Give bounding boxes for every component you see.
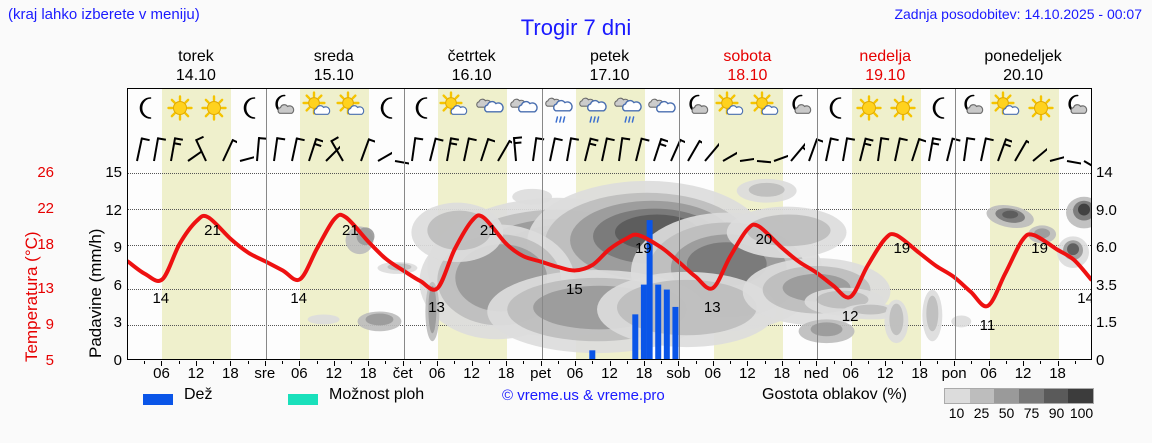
day-name: torek (127, 47, 265, 66)
day-date: 20.10 (954, 66, 1092, 85)
cloud-rain-icon (611, 91, 645, 125)
time-tick-label: 18 (1049, 365, 1066, 382)
time-minor-tick-mark (799, 361, 800, 364)
temperature-tick-label: 18 (14, 236, 54, 253)
precipitation-tick-label: 12 (92, 202, 122, 219)
weather-plot[interactable]: 142114211321151913201219111914 (127, 88, 1092, 360)
time-axis: 061218sre061218čet061218pet061218sob0612… (127, 361, 1092, 385)
time-tick-label: 18 (911, 365, 928, 382)
temperature-value-label: 19 (635, 240, 652, 257)
temperature-curve-layer (128, 173, 1091, 359)
temperature-tick-label: 22 (14, 200, 54, 217)
time-tick-label: pet (530, 365, 551, 382)
time-tick-label: 06 (291, 365, 308, 382)
time-minor-tick-mark (144, 361, 145, 364)
time-minor-tick-mark (385, 361, 386, 364)
sun-cloud-icon (301, 91, 335, 125)
day-name: sobota (678, 47, 816, 66)
time-tick-label: 18 (773, 365, 790, 382)
rain-legend-label: Dež (184, 386, 212, 404)
day-separator (817, 89, 818, 359)
sun-cloud-icon (438, 91, 472, 125)
sun-icon (197, 91, 231, 125)
time-minor-tick-mark (351, 361, 352, 364)
time-minor-tick-mark (592, 361, 593, 364)
day-name: nedelja (816, 47, 954, 66)
cloud-density-ramp-step (970, 389, 995, 403)
time-tick-label: ned (804, 365, 829, 382)
time-minor-tick-mark (627, 361, 628, 364)
rain-legend-swatch (143, 394, 173, 405)
time-minor-tick-mark (317, 361, 318, 364)
time-tick-label: 12 (188, 365, 205, 382)
cloud-icon (473, 91, 507, 125)
time-tick-label: 06 (153, 365, 170, 382)
cloud-density-ramp-label: 100 (1070, 405, 1093, 421)
moon-icon (404, 91, 438, 125)
time-minor-tick-mark (213, 361, 214, 364)
time-minor-tick-mark (765, 361, 766, 364)
chart-legend: Dež Možnost ploh © vreme.us & vreme.pro … (0, 386, 1152, 426)
cloud-density-ramp-label: 90 (1049, 405, 1065, 421)
time-minor-tick-mark (1006, 361, 1007, 364)
cloud-density-ramp-step (994, 389, 1019, 403)
moon-icon (128, 91, 162, 125)
temperature-value-label: 11 (980, 317, 996, 334)
temperature-value-label: 13 (704, 299, 721, 316)
time-minor-tick-mark (282, 361, 283, 364)
time-tick-label: 12 (739, 365, 756, 382)
precipitation-tick-label: 3 (92, 314, 122, 331)
day-header-torek: torek14.10 (127, 47, 265, 87)
graph-region: 142114211321151913201219111914 (128, 173, 1091, 359)
cloud-density-legend-title: Gostota oblakov (%) (762, 386, 907, 404)
time-tick-label: pon (942, 365, 967, 382)
time-minor-tick-mark (730, 361, 731, 364)
time-minor-tick-mark (454, 361, 455, 364)
temperature-value-label: 14 (1077, 290, 1092, 307)
time-tick-label: 18 (222, 365, 239, 382)
cloud-height-tick-label: 1.5 (1096, 314, 1138, 331)
time-minor-tick-mark (661, 361, 662, 364)
day-date: 18.10 (678, 66, 816, 85)
time-tick-label: 12 (877, 365, 894, 382)
cloud-density-ramp-step (945, 389, 970, 403)
day-header-sobota: sobota18.10 (678, 47, 816, 87)
sun-icon (886, 91, 920, 125)
sun-icon (163, 91, 197, 125)
cloud-height-axis-title: Višina oblakov (km) (1136, 170, 1152, 390)
temperature-value-label: 19 (1031, 240, 1048, 257)
showers-legend-swatch (288, 394, 318, 405)
time-minor-tick-mark (696, 361, 697, 364)
cloud-density-ramp-label: 75 (1024, 405, 1040, 421)
showers-legend-label: Možnost ploh (329, 386, 424, 404)
time-minor-tick-mark (420, 361, 421, 364)
cloud-icon (507, 91, 541, 125)
cloud-density-ramp-step (1019, 389, 1044, 403)
precipitation-tick-label: 15 (92, 164, 122, 181)
temperature-value-label: 21 (204, 222, 221, 239)
time-tick-label: 12 (463, 365, 480, 382)
copyright-link[interactable]: © vreme.us & vreme.pro (502, 387, 665, 404)
day-name: sreda (265, 47, 403, 66)
moon-icon (369, 91, 403, 125)
cloud-icon (645, 91, 679, 125)
cloud-height-tick-label: 9.0 (1096, 202, 1138, 219)
temperature-value-label: 20 (756, 231, 773, 248)
sun-cloud-icon (335, 91, 369, 125)
time-tick-label: 06 (567, 365, 584, 382)
day-name: ponedeljek (954, 47, 1092, 66)
time-minor-tick-mark (902, 361, 903, 364)
precipitation-tick-label: 6 (92, 277, 122, 294)
wind-barb-icon (1070, 129, 1092, 171)
day-separator (266, 89, 267, 359)
time-tick-label: sob (666, 365, 690, 382)
temperature-value-label: 12 (842, 308, 859, 325)
time-minor-tick-mark (489, 361, 490, 364)
time-tick-label: 12 (325, 365, 342, 382)
cloud-density-ramp-label: 25 (974, 405, 990, 421)
cloud-rain-icon (542, 91, 576, 125)
time-minor-tick-mark (558, 361, 559, 364)
time-tick-label: čet (393, 365, 413, 382)
moon-cloud-icon (266, 91, 300, 125)
day-separator (679, 89, 680, 359)
sun-cloud-icon (990, 91, 1024, 125)
cloud-density-ramp-labels: 1025507590100 (944, 405, 1094, 423)
day-date: 14.10 (127, 66, 265, 85)
time-minor-tick-mark (834, 361, 835, 364)
temperature-value-label: 13 (428, 299, 445, 316)
cloud-density-ramp-step (1068, 389, 1093, 403)
day-name: petek (541, 47, 679, 66)
time-tick-label: 06 (842, 365, 859, 382)
time-minor-tick-mark (523, 361, 524, 364)
time-tick-label: 06 (429, 365, 446, 382)
time-tick-label: 18 (498, 365, 515, 382)
temperature-value-label: 19 (893, 240, 910, 257)
time-tick-label: 06 (980, 365, 997, 382)
day-date: 15.10 (265, 66, 403, 85)
precipitation-tick-label: 9 (92, 239, 122, 256)
day-separator (404, 89, 405, 359)
day-separator (542, 89, 543, 359)
wind-barb-strip (128, 129, 1091, 173)
time-minor-tick-mark (937, 361, 938, 364)
cloud-density-color-ramp (944, 388, 1094, 404)
time-minor-tick-mark (1075, 361, 1076, 364)
temperature-value-label: 21 (342, 222, 359, 239)
time-minor-tick-mark (179, 361, 180, 364)
temperature-value-label: 15 (566, 281, 583, 298)
temperature-value-label: 14 (290, 290, 307, 307)
cloud-height-tick-label: 14 (1096, 164, 1138, 181)
temperature-tick-label: 5 (14, 352, 54, 369)
day-date: 19.10 (816, 66, 954, 85)
day-separator (955, 89, 956, 359)
temperature-tick-label: 13 (14, 280, 54, 297)
time-tick-label: 18 (636, 365, 653, 382)
weather-icon-strip (128, 89, 1091, 129)
moon-icon (921, 91, 955, 125)
time-tick-label: 12 (601, 365, 618, 382)
cloud-rain-icon (576, 91, 610, 125)
moon-icon (232, 91, 266, 125)
day-name: četrtek (403, 47, 541, 66)
time-minor-tick-mark (868, 361, 869, 364)
temperature-value-label: 21 (480, 222, 497, 239)
day-header-sreda: sreda15.10 (265, 47, 403, 87)
moon-cloud-icon (680, 91, 714, 125)
cloud-height-tick-label: 0 (1096, 352, 1138, 369)
time-minor-tick-mark (971, 361, 972, 364)
time-tick-label: sre (254, 365, 275, 382)
time-minor-tick-mark (1040, 361, 1041, 364)
sun-icon (1024, 91, 1058, 125)
precipitation-axis-title: Padavine (mm/h) (66, 170, 90, 370)
temperature-tick-label: 26 (14, 164, 54, 181)
time-tick-label: 06 (705, 365, 722, 382)
moon-cloud-icon (783, 91, 817, 125)
last-update-label: Zadnja posodobitev: 14.10.2025 - 00:07 (894, 6, 1142, 22)
precipitation-tick-label: 0 (92, 352, 122, 369)
cloud-density-ramp-step (1044, 389, 1069, 403)
time-tick-label: 18 (360, 365, 377, 382)
sun-cloud-icon (749, 91, 783, 125)
time-tick-label: 12 (1015, 365, 1032, 382)
cloud-height-tick-label: 6.0 (1096, 239, 1138, 256)
day-header-row: torek14.10sreda15.10četrtek16.10petek17.… (127, 47, 1092, 87)
cloud-density-ramp-label: 50 (999, 405, 1015, 421)
day-header-petek: petek17.10 (541, 47, 679, 87)
day-date: 16.10 (403, 66, 541, 85)
moon-icon (818, 91, 852, 125)
moon-cloud-icon (955, 91, 989, 125)
time-minor-tick-mark (248, 361, 249, 364)
day-header-četrtek: četrtek16.10 (403, 47, 541, 87)
cloud-density-ramp-label: 10 (949, 405, 965, 421)
temperature-tick-label: 9 (14, 316, 54, 333)
cloud-height-tick-label: 3.5 (1096, 277, 1138, 294)
sun-cloud-icon (714, 91, 748, 125)
temperature-value-label: 14 (152, 290, 169, 307)
moon-cloud-icon (1059, 91, 1092, 125)
sun-icon (852, 91, 886, 125)
day-header-ponedeljek: ponedeljek20.10 (954, 47, 1092, 87)
day-date: 17.10 (541, 66, 679, 85)
day-header-nedelja: nedelja19.10 (816, 47, 954, 87)
